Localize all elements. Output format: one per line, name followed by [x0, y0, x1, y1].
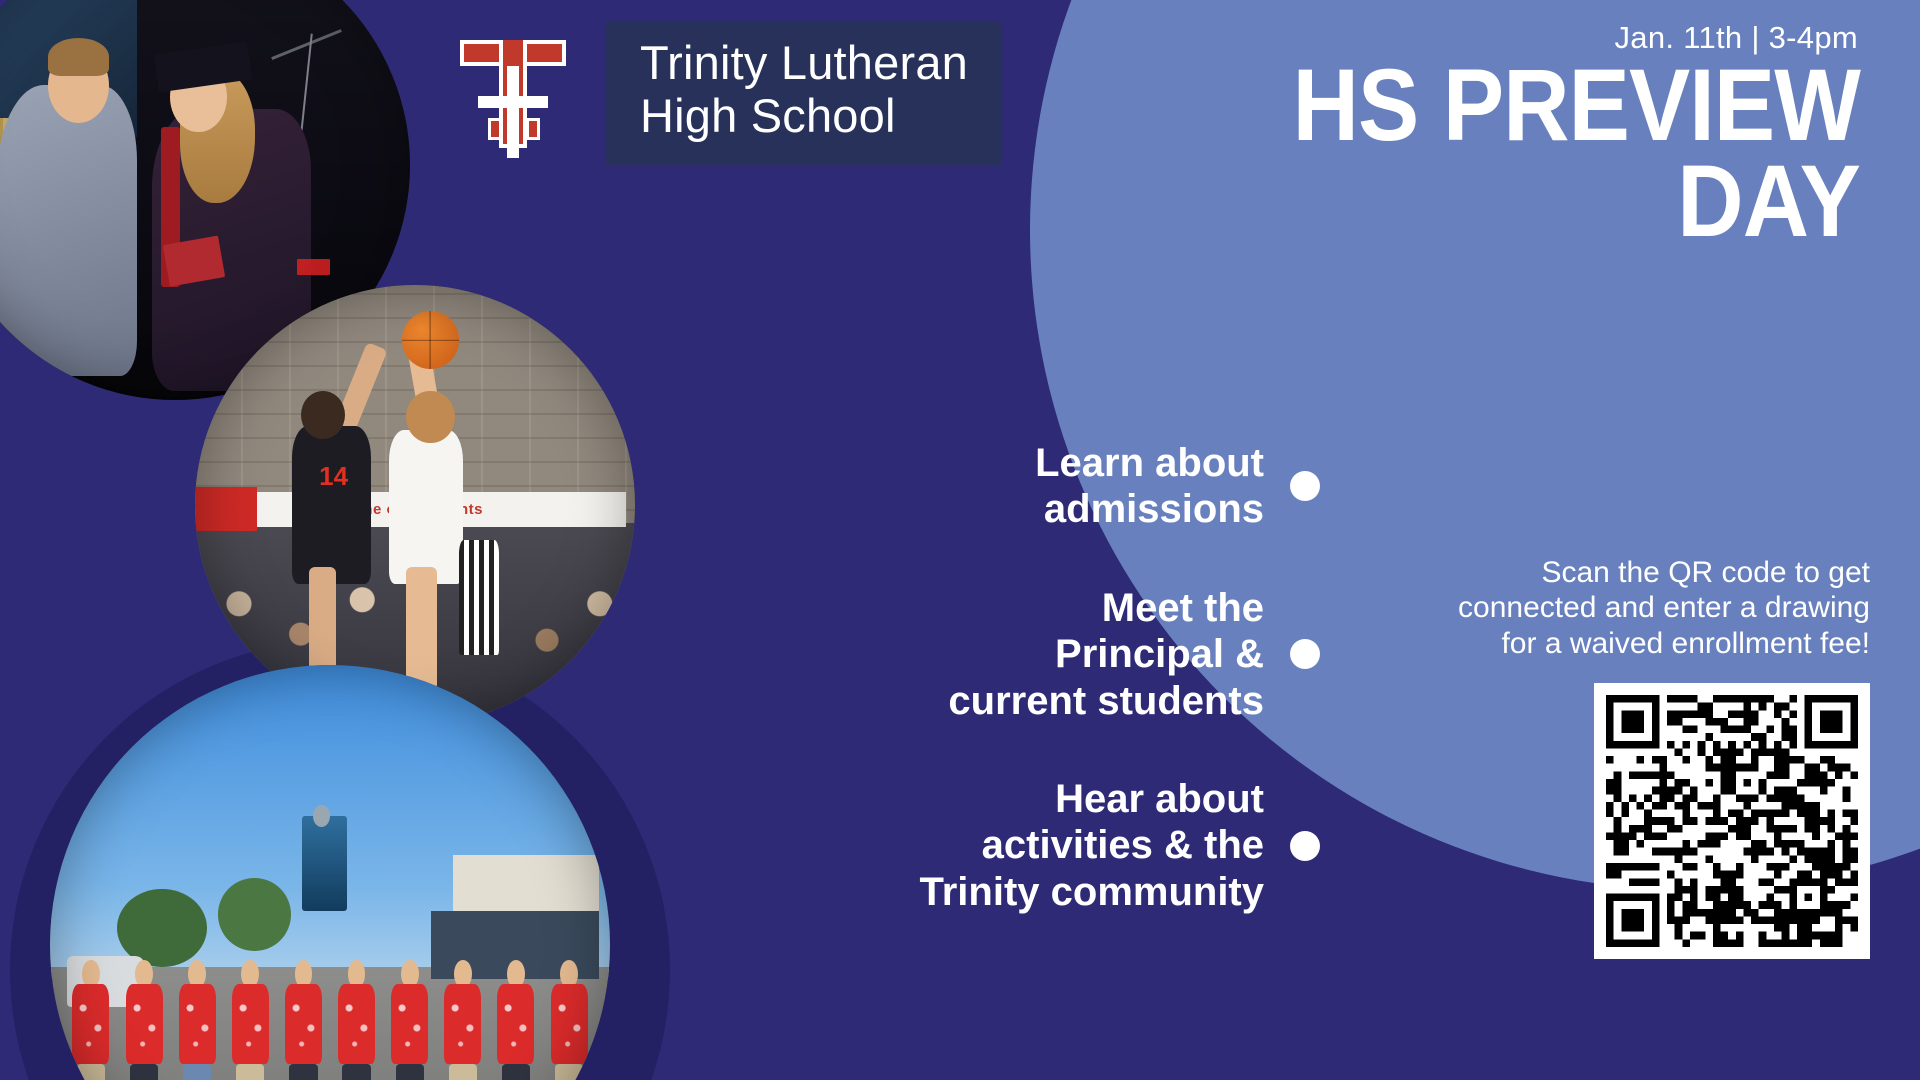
school-name-line-1: Trinity Lutheran	[640, 37, 968, 90]
student-legs	[449, 1064, 477, 1080]
shooter-head	[406, 391, 454, 444]
hawaiian-shirt	[338, 984, 375, 1064]
bullet-label: Hear about activities & the Trinity comm…	[920, 776, 1265, 915]
defender-jersey-number: 14	[305, 461, 362, 505]
list-item: Meet the Principal & current students	[700, 585, 1320, 724]
bullet-label: Learn about admissions	[1035, 440, 1264, 533]
student-legs	[342, 1064, 370, 1080]
student	[126, 956, 163, 1080]
presenter-hair	[48, 38, 109, 76]
bullet-dot-icon	[1290, 831, 1320, 861]
bullet-label: Meet the Principal & current students	[948, 585, 1264, 724]
hawaiian-shirt	[72, 984, 109, 1064]
student	[497, 956, 534, 1080]
student-legs	[236, 1064, 264, 1080]
hawaiian-shirt	[179, 984, 216, 1064]
hawaiian-shirt	[551, 984, 588, 1064]
feature-bullet-list: Learn about admissions Meet the Principa…	[700, 440, 1320, 967]
gym-banner-red	[195, 487, 257, 531]
trinity-t-cross-logo-icon	[452, 18, 574, 168]
page-title: HS PREVIEW DAY	[1140, 58, 1860, 250]
student	[232, 956, 269, 1080]
hawaiian-shirt	[497, 984, 534, 1064]
defender-head	[301, 391, 345, 439]
logo-cross-horizontal	[478, 96, 548, 108]
qr-code-icon[interactable]	[1606, 695, 1858, 947]
shooter-jersey	[389, 430, 464, 584]
student	[72, 956, 109, 1080]
student-group-trophy-photo	[50, 665, 610, 1080]
basketball	[402, 311, 459, 368]
hawaiian-shirt	[232, 984, 269, 1064]
student	[179, 956, 216, 1080]
qr-call-to-action: Scan the QR code to get connected and en…	[1450, 555, 1870, 964]
list-item: Hear about activities & the Trinity comm…	[700, 776, 1320, 915]
bullet-dot-icon	[1290, 471, 1320, 501]
referee	[459, 540, 499, 654]
brand-lockup: Trinity Lutheran High School	[452, 18, 1002, 168]
student	[391, 956, 428, 1080]
student-legs	[502, 1064, 530, 1080]
flyer-canvas: Home of the Saints 14	[0, 0, 1920, 1080]
bullet-dot-icon	[1290, 639, 1320, 669]
school-name-box: Trinity Lutheran High School	[606, 21, 1002, 164]
student-legs	[289, 1064, 317, 1080]
headline-line-2: DAY	[1140, 154, 1860, 250]
student-legs	[77, 1064, 105, 1080]
student-legs	[183, 1064, 211, 1080]
defender-leg	[309, 567, 335, 681]
hawaiian-shirt	[126, 984, 163, 1064]
hawaiian-shirt	[285, 984, 322, 1064]
student-legs	[396, 1064, 424, 1080]
student-row	[72, 928, 587, 1080]
student	[444, 956, 481, 1080]
student-legs	[130, 1064, 158, 1080]
student	[338, 956, 375, 1080]
student-legs	[555, 1064, 583, 1080]
exit-sign	[297, 259, 330, 275]
student	[551, 956, 588, 1080]
school-name-line-2: High School	[640, 90, 968, 143]
logo-cross-vertical	[507, 66, 519, 158]
logo-foot-right	[526, 118, 540, 140]
qr-instructions: Scan the QR code to get connected and en…	[1450, 555, 1870, 661]
qr-code-frame[interactable]	[1594, 683, 1870, 959]
list-item: Learn about admissions	[700, 440, 1320, 533]
basketball-scene: Home of the Saints 14	[195, 285, 635, 725]
group-scene	[50, 665, 610, 1080]
trophy	[302, 816, 347, 911]
basketball-game-photo: Home of the Saints 14	[195, 285, 635, 725]
student	[285, 956, 322, 1080]
logo-foot-left	[488, 118, 502, 140]
hawaiian-shirt	[391, 984, 428, 1064]
hawaiian-shirt	[444, 984, 481, 1064]
presenter-suit	[0, 85, 137, 376]
